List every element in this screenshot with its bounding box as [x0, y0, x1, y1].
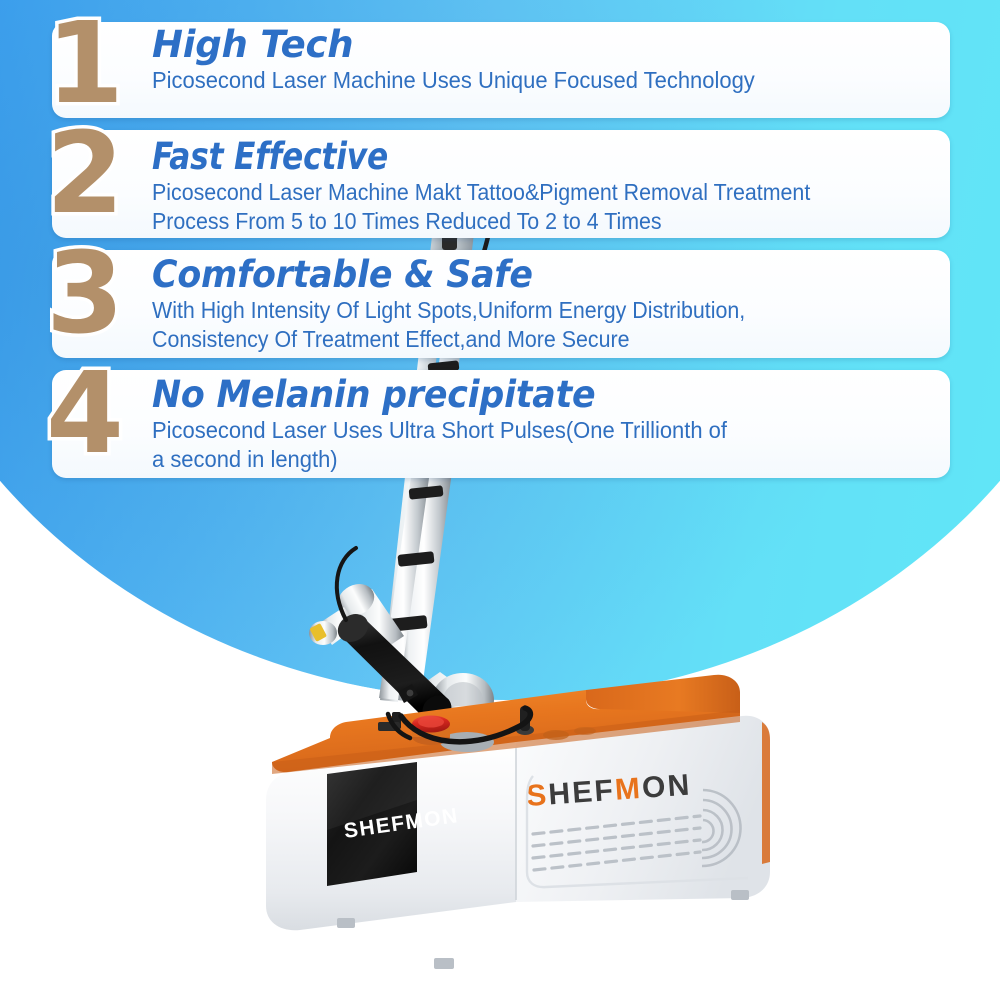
feature-body-2-line-2: Process From 5 to 10 Times Reduced To 2 … — [152, 208, 918, 234]
banner-root: 1 2 3 4 High Tech Picosecond Laser Machi… — [0, 0, 1000, 1000]
feature-number-1: 1 — [46, 8, 122, 120]
feature-heading-3: Comfortable & Safe — [152, 256, 927, 294]
feature-heading-2: Fast Effective — [152, 138, 927, 176]
feature-body-1-line-1: Picosecond Laser Machine Uses Unique Foc… — [152, 67, 939, 93]
feature-body-4-line-1: Picosecond Laser Uses Ultra Short Pulses… — [152, 417, 939, 443]
feature-text-2: Fast Effective Picosecond Laser Machine … — [152, 138, 976, 234]
feature-text-1: High Tech Picosecond Laser Machine Uses … — [152, 26, 976, 93]
feature-number-2: 2 — [46, 118, 122, 230]
feature-body-3-line-2: Consistency Of Treatment Effect,and More… — [152, 326, 918, 352]
feature-number-4: 4 — [46, 358, 122, 470]
feature-text-3: Comfortable & Safe With High Intensity O… — [152, 256, 976, 352]
feature-body-4-line-2: a second in length) — [152, 446, 939, 472]
feature-heading-4: No Melanin precipitate — [152, 376, 927, 414]
feature-body-2-line-1: Picosecond Laser Machine Makt Tattoo&Pig… — [152, 179, 918, 205]
feature-body-3-line-1: With High Intensity Of Light Spots,Unifo… — [152, 297, 918, 323]
feature-number-3: 3 — [46, 238, 122, 350]
feature-heading-1: High Tech — [152, 26, 976, 64]
feature-text-4: No Melanin precipitate Picosecond Laser … — [152, 376, 976, 472]
